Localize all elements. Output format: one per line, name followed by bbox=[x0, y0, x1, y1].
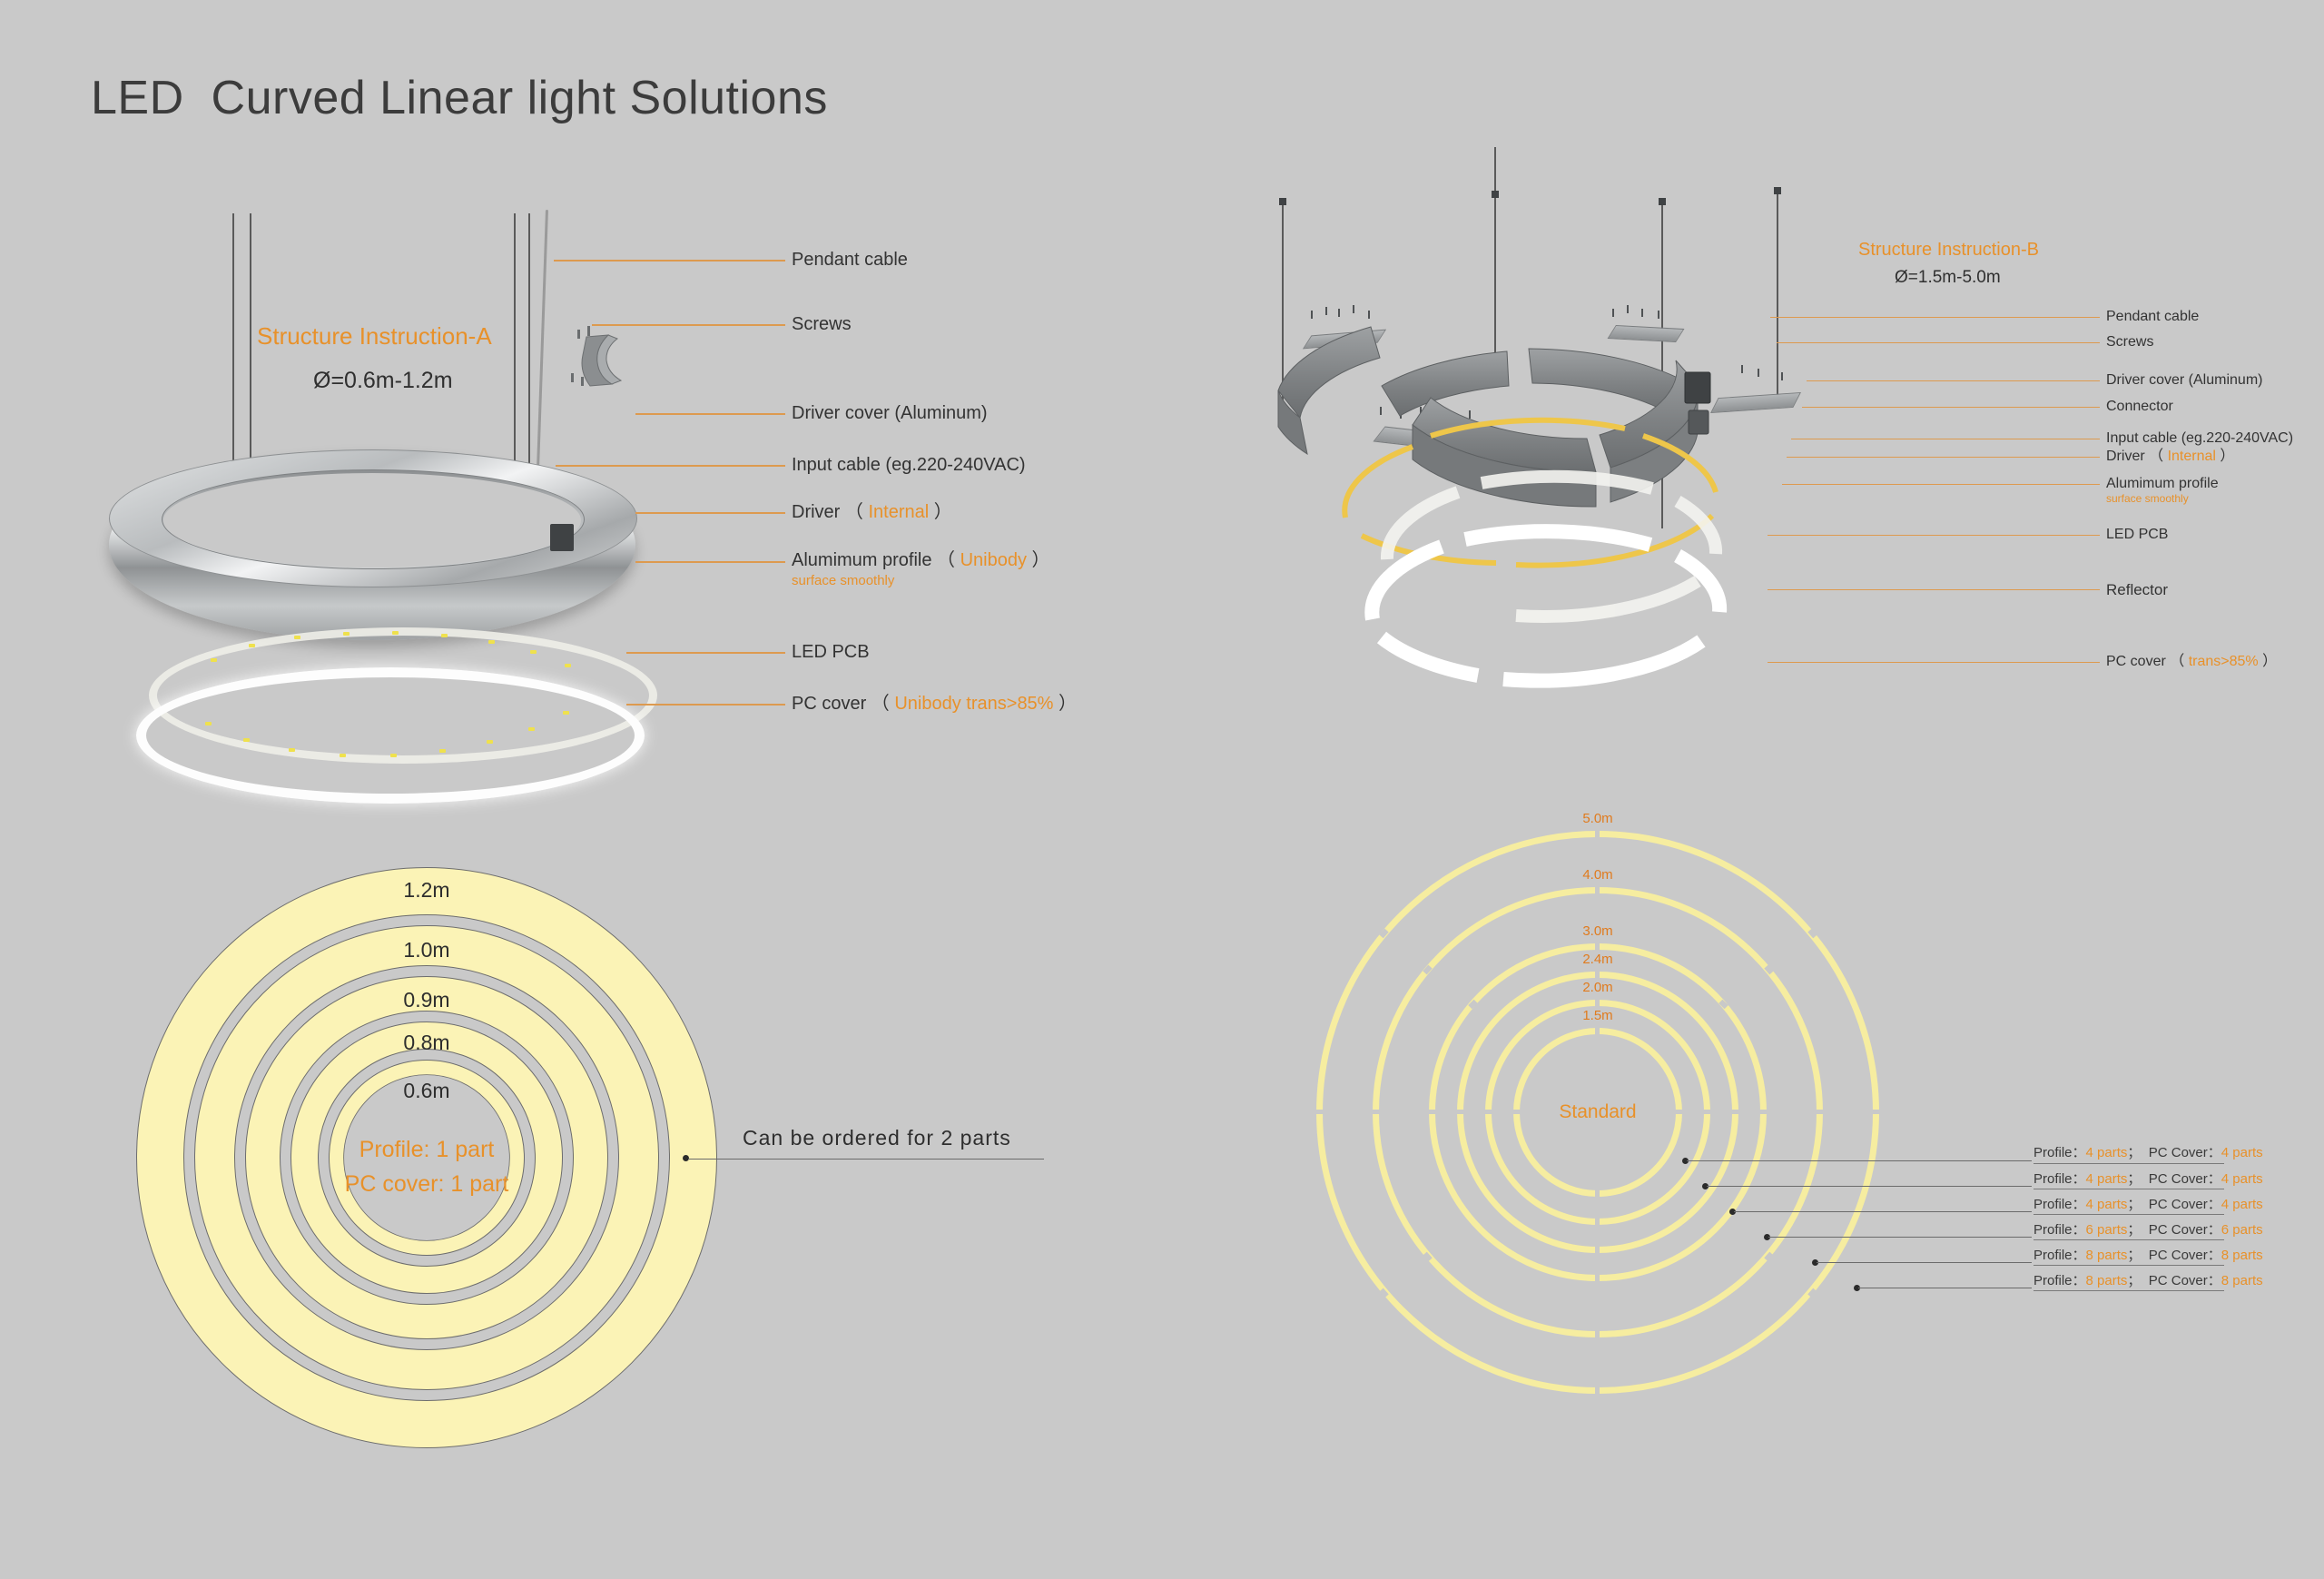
label-a-pc-cover: PC cover （ Unibody trans>85% ） bbox=[792, 694, 1077, 715]
rsize-label-2-0m: 2.0m bbox=[1556, 980, 1640, 995]
label-b-reflector: Reflector bbox=[2106, 581, 2168, 599]
gap-2-4m-right bbox=[1731, 1110, 1739, 1114]
note-can-be-ordered: Can be ordered for 2 parts bbox=[743, 1126, 1011, 1150]
gap-3-0m-left bbox=[1428, 1110, 1436, 1114]
center-label-standard: Standard bbox=[1547, 1101, 1649, 1123]
label-a-driver: Driver （ Internal ） bbox=[792, 502, 952, 523]
pc-cover-arcs bbox=[1244, 154, 1934, 735]
size-label-1-0m: 1.0m bbox=[383, 938, 470, 962]
rsize-label-4-0m: 4.0m bbox=[1556, 867, 1640, 883]
row-rule-4 bbox=[2033, 1239, 2224, 1240]
driver-slot bbox=[550, 524, 574, 551]
label-b-driver-cover: Driver cover (Aluminum) bbox=[2106, 372, 2262, 389]
leader-line-b-2 bbox=[1777, 342, 2100, 343]
rsize-label-3-0m: 3.0m bbox=[1556, 923, 1640, 939]
poster-root: LED Curved Linear light Solutions bbox=[0, 0, 2324, 1579]
screw-icon-1 bbox=[577, 330, 580, 339]
size-chart-left: 1.2m 1.0m 0.9m 0.8m 0.6m Profile: 1 part… bbox=[136, 867, 717, 1448]
row-leader-1 bbox=[1687, 1160, 2032, 1161]
center-label-profile: Profile: 1 part bbox=[281, 1132, 572, 1168]
driver-cover-part bbox=[581, 333, 635, 390]
label-b-input-cable: Input cable (eg.220-240VAC) bbox=[2106, 430, 2293, 447]
gap-5-0m-bottom bbox=[1595, 1387, 1600, 1395]
gap-2-0m-top bbox=[1595, 999, 1600, 1007]
leader-line-b-9 bbox=[1768, 589, 2100, 590]
screw-icon-3 bbox=[571, 373, 574, 382]
row-leader-4 bbox=[1768, 1237, 2032, 1238]
gap-2-0m-right bbox=[1703, 1110, 1711, 1114]
leader-line-b-8 bbox=[1768, 535, 2100, 536]
rsize-label-2-4m: 2.4m bbox=[1556, 952, 1640, 967]
page-title: LED Curved Linear light Solutions bbox=[91, 71, 828, 125]
gap-1-5m-top bbox=[1595, 1027, 1600, 1035]
gap-4-0m-top bbox=[1595, 886, 1600, 894]
gap-1-5m-left bbox=[1512, 1110, 1521, 1114]
row-rule-1 bbox=[2033, 1163, 2224, 1164]
gap-2-0m-left bbox=[1484, 1110, 1492, 1114]
leader-line-a-3 bbox=[635, 413, 785, 415]
leader-line-b-1 bbox=[1770, 317, 2100, 318]
gap-5-0m-left bbox=[1315, 1110, 1324, 1114]
leader-line-b-6 bbox=[1787, 457, 2100, 458]
label-a-screws: Screws bbox=[792, 314, 852, 335]
structure-a-heading: Structure Instruction-A bbox=[257, 322, 492, 350]
row-leader-5 bbox=[1817, 1262, 2032, 1263]
label-b-led-pcb: LED PCB bbox=[2106, 527, 2168, 543]
label-a-input-cable: Input cable (eg.220-240VAC) bbox=[792, 455, 1026, 476]
gap-2-4m-top bbox=[1595, 971, 1600, 979]
pc-cover-ring bbox=[136, 667, 645, 804]
label-a-pendant-cable: Pendant cable bbox=[792, 250, 908, 271]
row-leader-6 bbox=[1858, 1288, 2032, 1288]
structure-b-illustration bbox=[1244, 154, 1934, 735]
gap-2-0m-bottom bbox=[1595, 1218, 1600, 1226]
label-b-pendant-cable: Pendant cable bbox=[2106, 309, 2199, 325]
leader-line-a-6 bbox=[635, 561, 785, 563]
gap-2-4m-bottom bbox=[1595, 1246, 1600, 1254]
leader-line-b-4 bbox=[1802, 407, 2100, 408]
aluminum-profile-ring bbox=[109, 449, 635, 640]
parts-row-2: Profile：4 parts； PC Cover：4 parts bbox=[2033, 1169, 2263, 1188]
parts-row-4: Profile：6 parts； PC Cover：6 parts bbox=[2033, 1219, 2263, 1239]
structure-a-illustration bbox=[109, 195, 690, 740]
size-label-0-6m: 0.6m bbox=[383, 1079, 470, 1103]
row-rule-2 bbox=[2033, 1189, 2224, 1189]
size-label-0-8m: 0.8m bbox=[383, 1031, 470, 1055]
leader-line-a-1 bbox=[554, 260, 785, 262]
rsize-label-1-5m: 1.5m bbox=[1556, 1008, 1640, 1023]
gap-5-0m-right bbox=[1872, 1110, 1880, 1114]
row-rule-6 bbox=[2033, 1290, 2224, 1291]
label-a-led-pcb: LED PCB bbox=[792, 642, 870, 663]
center-label-pc-cover: PC cover: 1 part bbox=[281, 1167, 572, 1202]
row-rule-3 bbox=[2033, 1214, 2224, 1215]
label-b-screws: Screws bbox=[2106, 334, 2153, 350]
leader-line-a-4 bbox=[556, 465, 785, 467]
leader-line-a-7 bbox=[626, 652, 785, 654]
leader-line-a-5 bbox=[635, 512, 785, 514]
label-a-aluminum-sub: surface smoothly bbox=[792, 573, 1050, 588]
parts-row-5: Profile：8 parts； PC Cover：8 parts bbox=[2033, 1245, 2263, 1264]
label-b-driver: Driver （ Internal ） bbox=[2106, 449, 2234, 465]
size-label-1-2m: 1.2m bbox=[383, 878, 470, 903]
gap-4-0m-right bbox=[1816, 1110, 1824, 1114]
row-leader-2 bbox=[1707, 1186, 2032, 1187]
leader-line-a-8 bbox=[626, 704, 785, 706]
leader-line-a-2 bbox=[592, 324, 785, 326]
gap-3-0m-right bbox=[1759, 1110, 1768, 1114]
label-b-aluminum-profile: Alumimum profile surface smoothly bbox=[2106, 476, 2219, 506]
structure-a-diameter: Ø=0.6m-1.2m bbox=[313, 368, 453, 394]
leader-line-b-10 bbox=[1768, 662, 2100, 663]
gap-1-5m-right bbox=[1675, 1110, 1683, 1114]
parts-row-1: Profile：4 parts； PC Cover：4 parts bbox=[2033, 1142, 2263, 1161]
parts-row-3: Profile：4 parts； PC Cover：4 parts bbox=[2033, 1194, 2263, 1213]
parts-row-6: Profile：8 parts； PC Cover：8 parts bbox=[2033, 1270, 2263, 1289]
label-b-pc-cover: PC cover （ trans>85% ） bbox=[2106, 654, 2277, 670]
leader-line-b-7 bbox=[1782, 484, 2100, 485]
row-rule-5 bbox=[2033, 1265, 2224, 1266]
row-leader-3 bbox=[1734, 1211, 2032, 1212]
label-b-aluminum-sub: surface smoothly bbox=[2106, 493, 2219, 506]
label-b-connector: Connector bbox=[2106, 399, 2173, 415]
gap-3-0m-top bbox=[1595, 942, 1600, 951]
gap-2-4m-left bbox=[1456, 1110, 1464, 1114]
size-label-0-9m: 0.9m bbox=[383, 988, 470, 1012]
structure-b-diameter: Ø=1.5m-5.0m bbox=[1895, 268, 2001, 288]
gap-5-0m-top bbox=[1595, 830, 1600, 838]
gap-4-0m-bottom bbox=[1595, 1330, 1600, 1338]
structure-b-heading: Structure Instruction-B bbox=[1858, 240, 2039, 261]
leader-line-b-5 bbox=[1791, 439, 2100, 439]
gap-1-5m-bottom bbox=[1595, 1189, 1600, 1198]
leader-line-b-3 bbox=[1807, 380, 2100, 381]
rsize-label-5-0m: 5.0m bbox=[1556, 811, 1640, 826]
size-chart-right: 5.0m 4.0m 3.0m 2.4m 2.0m 1.5m Standard bbox=[1316, 831, 1879, 1394]
note-leader-line bbox=[688, 1159, 1044, 1160]
label-a-aluminum-profile: Alumimum profile （ Unibody ） surface smo… bbox=[792, 550, 1050, 588]
label-a-driver-cover: Driver cover (Aluminum) bbox=[792, 403, 988, 424]
gap-3-0m-bottom bbox=[1595, 1274, 1600, 1282]
gap-4-0m-left bbox=[1372, 1110, 1380, 1114]
